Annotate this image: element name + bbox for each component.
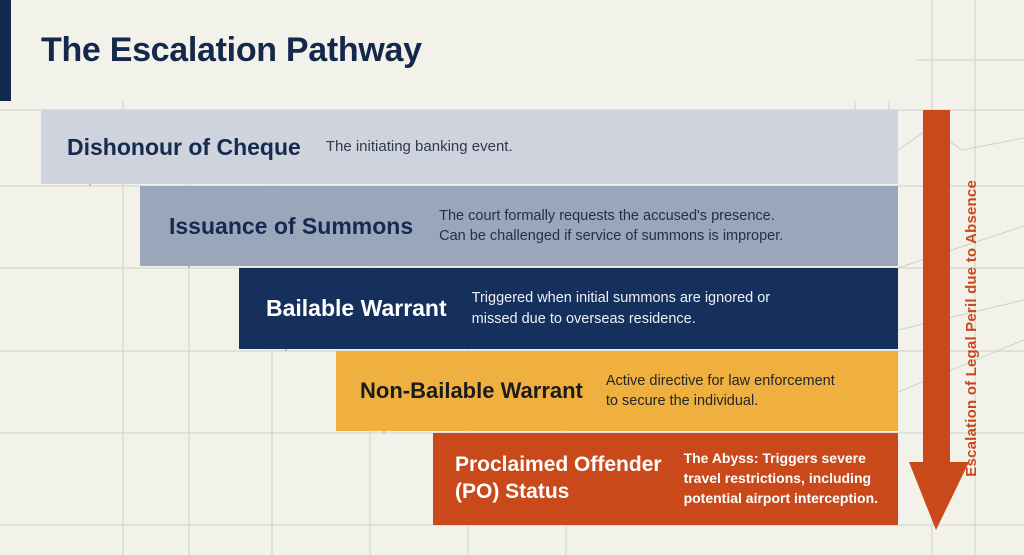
step-proclaimed-offender-status[interactable]: Proclaimed Offender (PO) Status The Abys… [433,433,898,525]
step-label: Issuance of Summons [169,213,413,240]
step-bailable-warrant[interactable]: Bailable Warrant Triggered when initial … [239,268,898,349]
step-dishonour-of-cheque[interactable]: Dishonour of Cheque The initiating banki… [41,110,898,184]
page-title: The Escalation Pathway [41,31,422,70]
step-description: The Abyss: Triggers severe travel restri… [684,449,878,509]
step-description: Triggered when initial summons are ignor… [472,288,770,329]
escalation-steps: Dishonour of Cheque The initiating banki… [0,101,1024,555]
step-issuance-of-summons[interactable]: Issuance of Summons The court formally r… [140,186,898,266]
title-accent-bar [0,0,11,101]
escalation-caption-text: Escalation of Legal Peril due to Absence [963,180,980,477]
step-description: The court formally requests the accused'… [439,206,783,247]
step-non-bailable-warrant[interactable]: Non-Bailable Warrant Active directive fo… [336,351,898,431]
escalation-indicator: Escalation of Legal Peril due to Absence [898,101,1024,555]
step-label: Proclaimed Offender (PO) Status [455,452,662,506]
step-label: Dishonour of Cheque [67,134,301,161]
step-description: Active directive for law enforcement to … [606,371,835,412]
step-label: Non-Bailable Warrant [360,378,583,404]
step-description: The initiating banking event. [326,137,513,157]
header: The Escalation Pathway [11,0,916,101]
escalation-caption: Escalation of Legal Peril due to Absence [954,101,988,555]
step-label: Bailable Warrant [266,295,447,322]
